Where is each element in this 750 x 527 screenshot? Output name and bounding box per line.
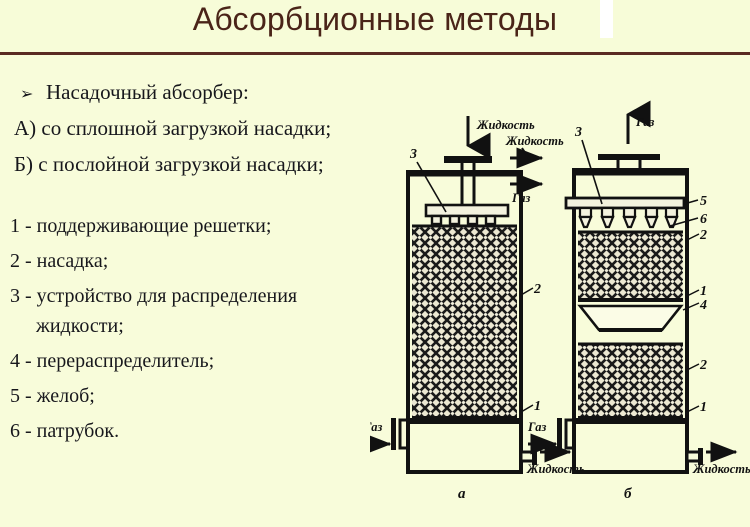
bullet-arrow-icon: ➢ xyxy=(20,84,33,104)
text-pane: ➢ Насадочный абсорбер: А) со сплошной за… xyxy=(0,62,415,512)
callout-2-upper-b: 2 xyxy=(699,228,707,243)
callout-2-a: 2 xyxy=(533,282,541,297)
column-b: Жидкость Газ Газ xyxy=(505,114,750,502)
callout-2-lower-b: 2 xyxy=(699,358,707,373)
caption-column-a: а xyxy=(458,486,466,502)
callout-1-lower-b: 1 xyxy=(700,400,707,415)
legend-item-4: 4 - перераспределитель; xyxy=(10,350,214,373)
caption-column-b: б xyxy=(624,486,632,502)
callout-4-b: 4 xyxy=(699,298,707,313)
label-gas-in-mid-b: Газ xyxy=(511,191,530,205)
label-gas-out-b: Газ xyxy=(635,115,654,129)
callout-6-b: 6 xyxy=(700,212,707,227)
legend-item-3: 3 - устройство для распределения xyxy=(10,285,297,308)
title-divider xyxy=(0,52,750,55)
legend-item-2: 2 - насадка; xyxy=(10,250,108,273)
legend-item-1: 1 - поддерживающие решетки; xyxy=(10,215,271,238)
title-accent-block xyxy=(600,0,613,38)
title-band: Абсорбционные методы xyxy=(0,0,750,52)
label-liquid-out-b: Жидкость xyxy=(692,462,750,476)
callout-1-upper-b: 1 xyxy=(700,284,707,299)
label-gas-in-a: Газ xyxy=(370,420,382,434)
absorber-diagrams: Жидкость xyxy=(370,100,750,527)
callout-3-a: 3 xyxy=(409,147,417,162)
page-title: Абсорбционные методы xyxy=(0,1,750,38)
callout-5-b: 5 xyxy=(700,194,707,209)
callout-1-a: 1 xyxy=(534,399,541,414)
variant-a: А) со сплошной загрузкой насадки; xyxy=(14,116,331,141)
callout-3-b: 3 xyxy=(574,125,582,140)
legend-item-6: 6 - патрубок. xyxy=(10,420,119,443)
label-liquid-in-a: Жидкость xyxy=(476,118,535,132)
label-gas-in-b: Газ xyxy=(527,420,546,434)
slide-canvas: Абсорбционные методы ➢ Насадочный абсорб… xyxy=(0,0,750,527)
variant-b: Б) с послойной загрузкой насадки; xyxy=(14,152,324,177)
label-liquid-in-b: Жидкость xyxy=(505,134,564,148)
heading-packed-absorber: Насадочный абсорбер: xyxy=(46,80,249,105)
legend-item-3-continued: жидкости; xyxy=(36,315,124,338)
legend-item-5: 5 - желоб; xyxy=(10,385,95,408)
